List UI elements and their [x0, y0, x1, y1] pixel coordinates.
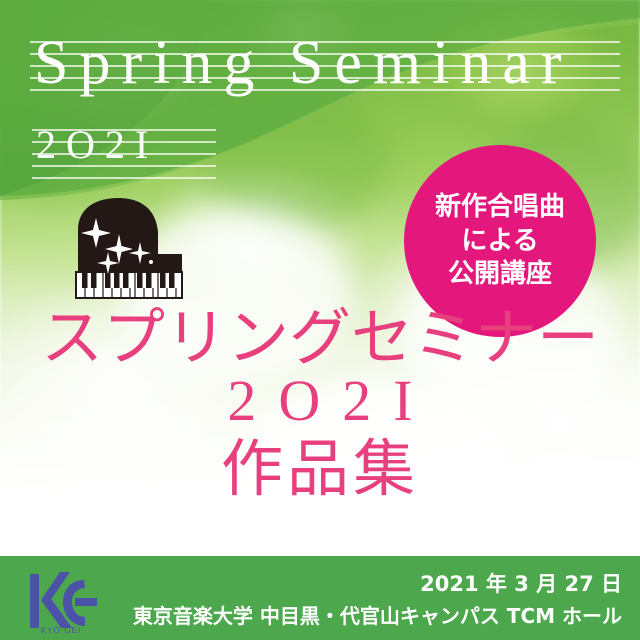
main-title-block: スプリングセミナー 2O2I 作品集: [0, 306, 640, 504]
badge-line-2: による: [461, 226, 538, 257]
event-venue: 東京音楽大学 中目黒・代官山キャンパス TCM ホール: [133, 600, 622, 629]
grand-piano-icon: [64, 196, 196, 304]
title-line-collection: 作品集: [0, 434, 640, 503]
headline-letter: a: [502, 32, 532, 94]
headline-year: 2O2I: [36, 125, 158, 165]
headline-letter: [265, 32, 283, 94]
event-date: 2021 年 3 月 27 日: [420, 568, 622, 598]
headline-letter: n: [460, 32, 493, 94]
kyo-gei-logo-icon: [22, 568, 100, 634]
title-line-year: 2O2I: [0, 369, 640, 434]
headline-letter: r: [541, 32, 564, 94]
badge-line-1: 新作合唱曲: [435, 192, 565, 223]
poster-canvas: Spring Seminar 2O2I 新作合唱曲 による 公開講座: [0, 0, 640, 640]
logo-wordmark: KYO·GEI: [22, 626, 100, 635]
headline-letter: S: [34, 32, 70, 94]
headline-letter: r: [121, 32, 144, 94]
headline-letter: m: [373, 32, 423, 94]
headline-letter: p: [79, 32, 112, 94]
headline-spring-seminar: Spring Seminar: [34, 32, 624, 94]
headline-letter: S: [289, 32, 325, 94]
headline-letter: e: [334, 32, 364, 94]
title-line-spring-seminar: スプリングセミナー: [0, 306, 640, 369]
headline-letter: i: [153, 32, 172, 94]
badge-line-3: 公開講座: [448, 259, 552, 290]
footer-bar: KYO·GEI 2021 年 3 月 27 日 東京音楽大学 中目黒・代官山キャ…: [0, 556, 640, 640]
headline-letter: i: [432, 32, 451, 94]
headline-letter: n: [181, 32, 214, 94]
headline-letter: g: [223, 32, 256, 94]
